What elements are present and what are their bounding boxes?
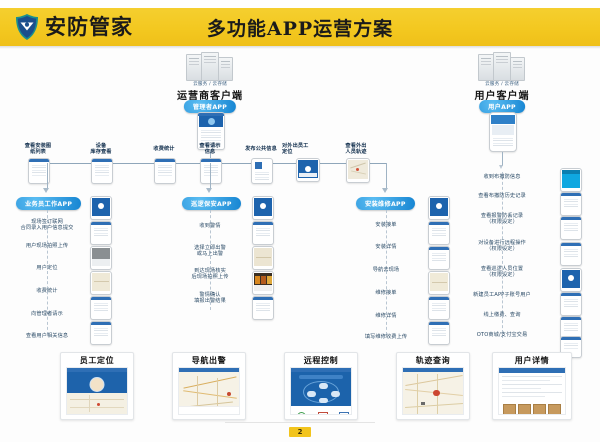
top-margin	[0, 0, 600, 8]
bottom-card-3[interactable]: 轨迹查询	[396, 352, 470, 420]
arrow-user	[499, 165, 503, 169]
connector-col2-down	[386, 163, 387, 189]
column-thumb-0-3	[90, 271, 112, 295]
user-feature-3: 对设备进行远程操作 （权限设定）	[452, 240, 552, 253]
column-item-0-1: 用户现场拍照上传	[6, 243, 88, 249]
column-thumb-1-4	[252, 296, 274, 320]
brand-name: 安防管家	[45, 17, 133, 38]
map-pin-icon	[296, 158, 320, 182]
column-thumb-2-4	[428, 296, 450, 320]
bottom-card-1[interactable]: 导航出警	[172, 352, 246, 420]
bottom-card-title-2: 远程控制	[285, 355, 357, 366]
doc-list-icon-1	[91, 158, 113, 184]
connector-user-down	[502, 152, 503, 166]
bottom-card-body-4	[498, 367, 566, 415]
column-item-1-0: 收到警情	[172, 223, 248, 229]
column-thumb-2-3	[428, 271, 450, 295]
bottom-card-body-3	[402, 367, 464, 415]
column-item-2-3: 维修接单	[348, 290, 424, 296]
bottom-card-title-0: 员工定位	[61, 355, 133, 366]
column-thumb-2-1	[428, 221, 450, 245]
user-client-group: 云服务 / 云存储 用户客户端 用户APP	[452, 52, 552, 128]
footer-divider	[225, 422, 375, 423]
arrow-col2	[382, 188, 388, 193]
column-item-2-2: 导航去现场	[348, 267, 424, 273]
column-item-2-1: 安装详情	[348, 244, 424, 250]
brand-logo: 安防管家	[14, 13, 133, 41]
column-item-2-4: 维修详情	[348, 313, 424, 319]
column-thumb-0-1	[90, 221, 112, 245]
page-header: 安防管家	[0, 8, 600, 46]
doc-list-icon-3	[200, 158, 222, 184]
user-phone-preview[interactable]	[489, 112, 517, 152]
bottom-card-2[interactable]: 远程控制	[284, 352, 358, 420]
column-thumb-0-2	[90, 246, 112, 270]
column-badge-1[interactable]: 巡逻保安APP	[182, 197, 241, 210]
shield-icon	[14, 13, 40, 41]
column-thumb-0-5	[90, 321, 112, 345]
column-item-0-0: 现场签订联网 合同录入用户信息提交	[6, 219, 88, 232]
column-item-1-2: 到达现场核实 后现场拍照上传	[172, 268, 248, 281]
column-thumb-1-3	[252, 271, 274, 295]
column-thumb-2-0	[428, 196, 450, 220]
user-feature-7: OTO商城/支付宝交易	[448, 332, 556, 338]
poster-page: 安防管家 多功能APP运营方案 云服务 / 云存储 运营商客户端 管理者APP	[0, 0, 600, 442]
column-thumb-1-2	[252, 246, 274, 270]
bottom-card-title-3: 轨迹查询	[397, 355, 469, 366]
user-feature-0: 收到布撤防信息	[452, 174, 552, 180]
bottom-card-body-2	[290, 367, 352, 415]
column-item-0-3: 收费统计	[6, 288, 88, 294]
column-badge-0[interactable]: 业务员工作APP	[16, 197, 81, 210]
user-thumb-2	[560, 216, 582, 240]
user-thumb-1	[560, 192, 582, 216]
user-thumb-5	[560, 292, 582, 316]
server-stack-icon-user	[474, 52, 530, 80]
feature-label-0: 查看安装图 纸列表	[14, 143, 62, 156]
user-thumb-4	[560, 268, 582, 292]
doc-list-icon-2	[154, 158, 176, 184]
column-item-2-5: 填写维修收费上传	[342, 334, 430, 340]
bottom-card-title-1: 导航出警	[173, 355, 245, 366]
column-item-1-1: 选择立即出警 或马上出警	[172, 245, 248, 258]
bottom-card-body-0	[66, 367, 128, 415]
user-feature-4: 查看巡逻人员位置 （权限设定）	[452, 266, 552, 279]
track-map-icon	[346, 158, 370, 183]
column-item-0-5: 查看用户相关信息	[6, 333, 88, 339]
column-thumb-2-5	[428, 321, 450, 345]
arrow-col0	[43, 188, 49, 193]
feature-label-2: 收费统计	[140, 146, 188, 152]
column-badge-2[interactable]: 安装维修APP	[356, 197, 415, 210]
user-feature-6: 线上缴费、查询	[452, 312, 552, 318]
connector-col0-down	[47, 163, 48, 189]
bottom-card-0[interactable]: 员工定位	[60, 352, 134, 420]
column-item-0-4: 向管理者请示	[6, 311, 88, 317]
column-item-0-2: 用户定位	[6, 265, 88, 271]
user-feature-5: 新建员工APP子账号用户	[448, 292, 556, 298]
column-thumb-1-0	[252, 196, 274, 220]
user-feature-1: 查看布撤防历史记录	[452, 193, 552, 199]
notice-icon	[251, 158, 273, 184]
connector-col1-down	[210, 163, 211, 189]
column-thumb-0-0	[90, 196, 112, 220]
operator-client-group: 云服务 / 云存储 运营商客户端 管理者APP	[160, 52, 260, 128]
arrow-col1	[206, 188, 212, 193]
column-thumb-0-4	[90, 296, 112, 320]
column-item-2-0: 安装接单	[348, 222, 424, 228]
bottom-card-title-4: 用户详情	[493, 355, 571, 366]
user-feature-2: 查看报警防丢记录 （权限设定）	[452, 213, 552, 226]
bottom-card-4[interactable]: 用户详情	[492, 352, 572, 420]
server-stack-icon	[182, 52, 238, 80]
bottom-card-body-1	[178, 367, 240, 415]
feature-label-6: 查看外出 人员轨迹	[326, 143, 386, 156]
user-thumb-0	[560, 168, 582, 192]
column-thumb-2-2	[428, 246, 450, 270]
feature-label-1: 设备 库存查看	[77, 143, 125, 156]
user-thumb-3	[560, 242, 582, 266]
column-item-1-3: 警情确认 填报出警结果	[172, 292, 248, 305]
header-shadow	[0, 46, 600, 49]
page-number: 2	[289, 427, 311, 437]
feature-label-3: 查看请示 信息	[186, 143, 234, 156]
column-thumb-1-1	[252, 221, 274, 245]
